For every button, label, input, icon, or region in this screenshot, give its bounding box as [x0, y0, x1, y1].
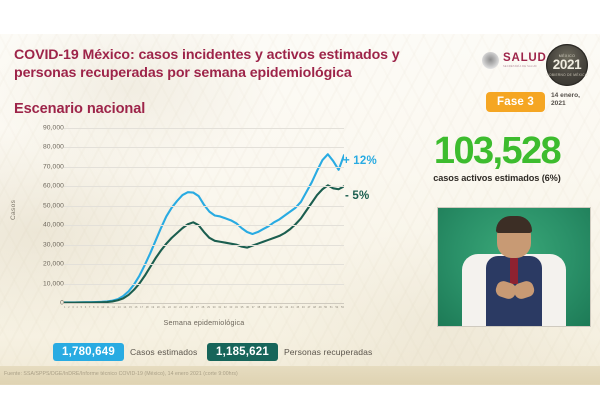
x-axis-tick-label: 35 [241, 304, 244, 311]
x-axis-tick-label: 10 [101, 304, 104, 311]
chart-plot-area [64, 128, 344, 303]
legend-item-recovered: 1,185,621 Personas recuperadas [207, 343, 372, 361]
x-axis-label: Semana epidemiológica [64, 318, 344, 327]
x-axis-tick-label: 31 [218, 304, 221, 311]
gridline [64, 186, 344, 187]
x-axis-tick-label: 25 [185, 304, 188, 311]
x-axis-tick-label: 44 [291, 304, 294, 311]
x-axis-tick-label: 39 [263, 304, 266, 311]
x-axis-tick-label: 6 [85, 304, 86, 311]
y-axis-tick-label: 40,000 [16, 222, 64, 229]
y-axis-tick-label: 20,000 [16, 261, 64, 268]
x-axis-tick-label: 46 [302, 304, 305, 311]
x-axis-tick-label: 11 [107, 304, 110, 311]
x-axis-tick-label: 30 [213, 304, 216, 311]
source-footnote: Fuente: SSA/SPPS/DGE/InDRE/Informe técni… [4, 371, 564, 377]
gridline [64, 167, 344, 168]
y-axis-tick-label: 30,000 [16, 241, 64, 248]
date-label: 14 enero, 2021 [551, 92, 580, 109]
gridline [64, 284, 344, 285]
x-axis-tick-label: 36 [246, 304, 249, 311]
x-axis-tick-label: 21 [162, 304, 165, 311]
x-axis-tick-label: 47 [307, 304, 310, 311]
legend-value-estimated-cases: 1,780,649 [53, 343, 124, 361]
date-line-1: 14 enero, [551, 92, 580, 100]
sign-language-interpreter-video [437, 207, 591, 327]
x-axis-tick-label: 4 [76, 304, 77, 311]
x-axis-tick-label: 13 [118, 304, 121, 311]
salud-logo-word: SALUD [503, 53, 547, 65]
x-axis-tick-label: 26 [190, 304, 193, 311]
gridline [64, 128, 344, 129]
x-axis-tick-label: 3 [72, 304, 73, 311]
x-axis-tick-label: 52 [335, 304, 338, 311]
x-axis-tick-label: 27 [196, 304, 199, 311]
x-axis-tick-label: 18 [146, 304, 149, 311]
epidemic-curve-chart: Casos 90,00080,00070,00060,00050,00040,0… [8, 128, 360, 333]
x-axis-tick-label: 1 [64, 304, 65, 311]
x-axis-tick-label: 28 [201, 304, 204, 311]
x-axis-tick-label: 43 [285, 304, 288, 311]
legend-value-recovered: 1,185,621 [207, 343, 278, 361]
x-axis-tick-label: 9 [97, 304, 98, 311]
y-axis-tick-label: 80,000 [16, 144, 64, 151]
x-axis-tick-label: 14 [123, 304, 126, 311]
x-axis-tick-label: 8 [93, 304, 94, 311]
kpi-active-cases: 103,528 casos activos estimados (6%) [398, 131, 596, 183]
y-axis-tick-label: 0 [16, 300, 64, 307]
x-axis-tick-label: 17 [140, 304, 143, 311]
x-axis-tick-label: 41 [274, 304, 277, 311]
gridline [64, 206, 344, 207]
gobierno-2021-seal: MÉXICO 2021 GOBIERNO DE MÉXICO [546, 44, 588, 86]
x-axis-tick-label: 50 [324, 304, 327, 311]
x-axis-tick-label: 45 [296, 304, 299, 311]
x-axis-tick-label: 53 [341, 304, 344, 311]
x-axis-tick-label: 23 [174, 304, 177, 311]
interpreter-tie [510, 258, 518, 284]
legend-label-recovered: Personas recuperadas [284, 347, 372, 357]
x-axis-tick-label: 24 [179, 304, 182, 311]
x-axis-tick-label: 37 [252, 304, 255, 311]
kpi-caption: casos activos estimados (6%) [398, 173, 596, 183]
x-axis-tick-label: 49 [319, 304, 322, 311]
x-axis-tick-label: 22 [168, 304, 171, 311]
page-subtitle: Escenario nacional [14, 101, 145, 117]
x-axis-tick-label: 32 [224, 304, 227, 311]
x-axis-tick-label: 7 [89, 304, 90, 311]
legend-label-estimated-cases: Casos estimados [130, 347, 197, 357]
date-line-2: 2021 [551, 100, 580, 108]
x-axis-tick-label: 5 [81, 304, 82, 311]
x-axis-tick-label: 40 [268, 304, 271, 311]
page-title: COVID-19 México: casos incidentes y acti… [14, 46, 444, 82]
chart-line-casos-estimados [64, 154, 344, 302]
x-axis-tick-label: 33 [229, 304, 232, 311]
x-axis-tick-label: 51 [330, 304, 333, 311]
interpreter-hair [496, 216, 532, 233]
chart-lines-svg [64, 128, 344, 303]
kpi-value: 103,528 [398, 131, 596, 171]
y-axis-tick-label: 90,000 [16, 125, 64, 132]
x-axis-ticks: 1234567891011121314151617181920212223242… [64, 304, 344, 311]
slide-root: COVID-19 México: casos incidentes y acti… [0, 0, 600, 400]
x-axis-tick-label: 48 [313, 304, 316, 311]
x-axis-tick-label: 20 [157, 304, 160, 311]
x-axis-tick-label: 12 [112, 304, 115, 311]
x-axis-tick-label: 42 [280, 304, 283, 311]
y-axis-tick-label: 60,000 [16, 183, 64, 190]
y-axis-ticks: 90,00080,00070,00060,00050,00040,00030,0… [8, 128, 64, 303]
legend-item-estimated-cases: 1,780,649 Casos estimados [53, 343, 197, 361]
salud-logo: SALUD SECRETARÍA DE SALUD [482, 52, 547, 69]
x-axis-tick-label: 29 [207, 304, 210, 311]
y-axis-tick-label: 50,000 [16, 202, 64, 209]
salud-seal-icon [482, 52, 499, 69]
x-axis-tick-label: 15 [129, 304, 132, 311]
gridline [64, 245, 344, 246]
gridline [64, 225, 344, 226]
annotation-blue-change: + 12% [343, 155, 377, 167]
x-axis-tick-label: 16 [135, 304, 138, 311]
gridline [64, 264, 344, 265]
x-axis-tick-label: 19 [151, 304, 154, 311]
y-axis-tick-label: 70,000 [16, 163, 64, 170]
x-axis-tick-label: 38 [257, 304, 260, 311]
salud-logo-subtitle: SECRETARÍA DE SALUD [503, 66, 547, 69]
gridline [64, 147, 344, 148]
seal-bottom-text: GOBIERNO DE MÉXICO [546, 73, 587, 77]
status-badge-phase: Fase 3 [486, 92, 545, 112]
x-axis-tick-label: 34 [235, 304, 238, 311]
top-white-band [0, 0, 600, 34]
x-axis-tick-label: 2 [68, 304, 69, 311]
seal-year-text: 2021 [553, 58, 581, 72]
y-axis-tick-label: 10,000 [16, 280, 64, 287]
annotation-green-change: - 5% [345, 190, 369, 202]
